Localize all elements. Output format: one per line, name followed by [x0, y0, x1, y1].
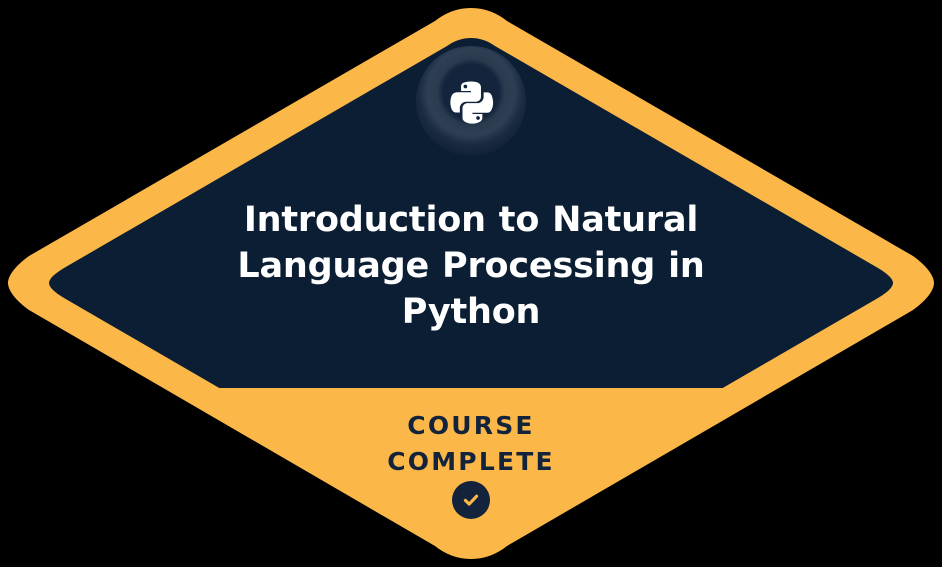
course-title-line-2: Language Processing in	[237, 246, 704, 286]
course-title: Introduction to Natural Language Process…	[191, 197, 751, 335]
course-title-line-3: Python	[402, 292, 541, 332]
status-label-line-2: COMPLETE	[211, 444, 731, 480]
status-label: COURSE COMPLETE	[211, 408, 731, 480]
python-logo-icon	[416, 46, 526, 156]
status-label-line-1: COURSE	[211, 408, 731, 444]
check-mark-icon	[452, 481, 490, 519]
course-completion-badge: Introduction to Natural Language Process…	[0, 0, 942, 567]
course-title-line-1: Introduction to Natural	[244, 200, 698, 240]
